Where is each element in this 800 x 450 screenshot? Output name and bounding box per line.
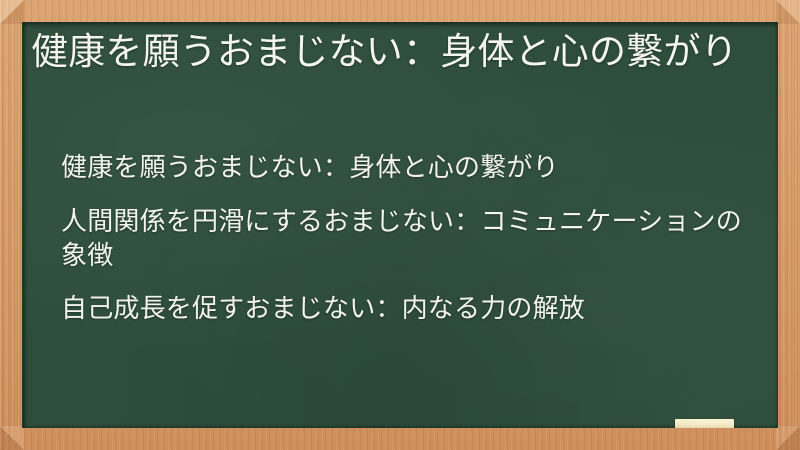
- list-item: 健康を願うおまじない：身体と心の繋がり: [61, 151, 751, 185]
- frame-left-rail: [0, 0, 23, 450]
- list-item: 人間関係を円滑にするおまじない：コミュニケーションの象徴: [61, 205, 751, 273]
- slide-title: 健康を願うおまじない：身体と心の繋がり: [31, 29, 761, 76]
- list-item: 自己成長を促すおまじない：内なる力の解放: [61, 292, 751, 326]
- frame-right-rail: [777, 0, 800, 450]
- chalkboard-slide: 健康を願うおまじない：身体と心の繋がり 健康を願うおまじない：身体と心の繋がり …: [0, 0, 800, 450]
- frame-corner-bottom-right: [776, 426, 800, 450]
- frame-corner-bottom-left: [0, 426, 24, 450]
- bullet-list: 健康を願うおまじない：身体と心の繋がり 人間関係を円滑にするおまじない：コミュニ…: [61, 151, 751, 326]
- chalkboard-surface: 健康を願うおまじない：身体と心の繋がり 健康を願うおまじない：身体と心の繋がり …: [22, 22, 778, 428]
- chalk-stick-icon: [675, 419, 734, 428]
- frame-corner-top-right: [776, 0, 800, 24]
- frame-corner-top-left: [0, 0, 24, 24]
